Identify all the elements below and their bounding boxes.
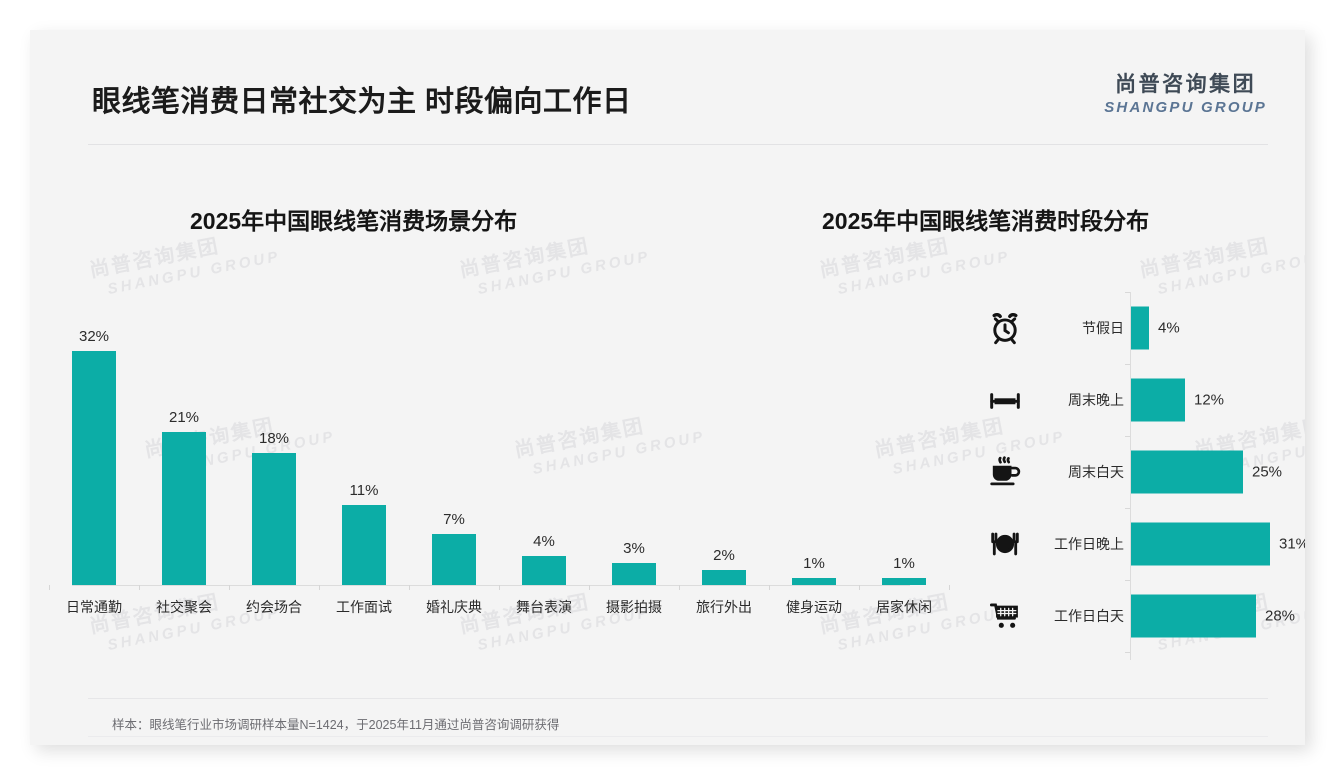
column-value-label: 18% xyxy=(259,430,289,447)
column-axis-tick xyxy=(139,585,140,590)
bar-row: 周末晚上12% xyxy=(960,364,1300,436)
column-bar[interactable] xyxy=(162,432,206,585)
bar-value-label: 25% xyxy=(1252,464,1282,481)
bar-value-label: 28% xyxy=(1265,608,1295,625)
footer-divider xyxy=(88,736,1268,737)
bar-value-label: 12% xyxy=(1194,392,1224,409)
bar-value-label: 4% xyxy=(1158,320,1180,337)
horizontal-bar[interactable] xyxy=(1131,451,1243,494)
horizontal-bar[interactable] xyxy=(1131,595,1256,638)
column-bar[interactable] xyxy=(522,556,566,585)
column-axis-tick xyxy=(949,585,950,590)
bar-axis-tick xyxy=(1125,436,1130,437)
column-axis-tick xyxy=(409,585,410,590)
column-group: 4% xyxy=(499,280,589,585)
alarm-clock-icon xyxy=(988,311,1022,345)
slide-header: 眼线笔消费日常社交为主 时段偏向工作日 尚普咨询集团 SHANGPU GROUP xyxy=(30,30,1305,120)
sample-footnote: 样本：眼线笔行业市场调研样本量N=1424，于2025年11月通过尚普咨询调研获… xyxy=(112,714,559,733)
dinner-plate-icon xyxy=(988,527,1022,561)
horizontal-bar[interactable] xyxy=(1131,379,1185,422)
consumption-scenario-column-chart: 32%21%18%11%7%4%3%2%1%1% 日常通勤社交聚会约会场合工作面… xyxy=(50,280,930,625)
bar-category-label: 工作日晚上 xyxy=(1032,534,1124,554)
consumption-timeslot-bar-chart: 节假日4%周末晚上12%周末白天25%工作日晚上31%工作日白天28% xyxy=(960,292,1300,660)
bar-axis-tick xyxy=(1125,580,1130,581)
column-group: 32% xyxy=(49,280,139,585)
column-category-label: 居家休闲 xyxy=(849,597,959,617)
slide-card: 尚普咨询集团SHANGPU GROUP尚普咨询集团SHANGPU GROUP尚普… xyxy=(30,30,1305,745)
column-chart-baseline xyxy=(72,585,910,586)
column-value-label: 21% xyxy=(169,409,199,426)
column-group: 11% xyxy=(319,280,409,585)
brand-logo: 尚普咨询集团 SHANGPU GROUP xyxy=(1104,68,1267,116)
column-group: 7% xyxy=(409,280,499,585)
column-value-label: 4% xyxy=(533,533,555,550)
column-bar[interactable] xyxy=(72,351,116,585)
page-title: 眼线笔消费日常社交为主 时段偏向工作日 xyxy=(92,78,632,120)
bar-category-label: 周末白天 xyxy=(1032,462,1124,482)
column-bar[interactable] xyxy=(342,505,386,585)
bar-category-label: 周末晚上 xyxy=(1032,390,1124,410)
bar-category-label: 节假日 xyxy=(1032,318,1124,338)
column-bar[interactable] xyxy=(792,578,836,585)
column-bar[interactable] xyxy=(882,578,926,585)
bar-axis-tick xyxy=(1125,508,1130,509)
column-group: 21% xyxy=(139,280,229,585)
header-divider xyxy=(88,144,1268,145)
column-value-label: 7% xyxy=(443,511,465,528)
bar-row: 工作日白天28% xyxy=(960,580,1300,652)
column-axis-tick xyxy=(49,585,50,590)
horizontal-bar[interactable] xyxy=(1131,307,1149,350)
column-value-label: 32% xyxy=(79,328,109,345)
bed-icon xyxy=(988,383,1022,417)
column-axis-tick xyxy=(589,585,590,590)
column-axis-tick xyxy=(769,585,770,590)
column-axis-tick xyxy=(859,585,860,590)
column-value-label: 11% xyxy=(350,482,379,499)
column-value-label: 1% xyxy=(803,555,825,572)
column-group: 18% xyxy=(229,280,319,585)
coffee-cup-icon xyxy=(988,455,1022,489)
bar-row: 节假日4% xyxy=(960,292,1300,364)
column-bar[interactable] xyxy=(252,453,296,585)
column-bar[interactable] xyxy=(612,563,656,585)
bar-axis-tick xyxy=(1125,364,1130,365)
bar-value-label: 31% xyxy=(1279,536,1305,553)
watermark-text: 尚普咨询集团SHANGPU GROUP xyxy=(1138,224,1305,301)
column-axis-tick xyxy=(229,585,230,590)
shopping-cart-icon xyxy=(988,599,1022,633)
brand-name-cn: 尚普咨询集团 xyxy=(1104,68,1267,98)
column-value-label: 1% xyxy=(893,555,915,572)
column-value-label: 2% xyxy=(713,547,735,564)
right-chart-title: 2025年中国眼线笔消费时段分布 xyxy=(822,202,1149,236)
column-axis-tick xyxy=(319,585,320,590)
footnote-divider xyxy=(88,698,1268,699)
horizontal-bar[interactable] xyxy=(1131,523,1270,566)
bar-row: 周末白天25% xyxy=(960,436,1300,508)
brand-name-en: SHANGPU GROUP xyxy=(1104,99,1267,116)
column-plot-area: 32%21%18%11%7%4%3%2%1%1% xyxy=(50,280,930,585)
column-group: 3% xyxy=(589,280,679,585)
left-chart-title: 2025年中国眼线笔消费场景分布 xyxy=(190,202,517,236)
bar-axis-tick xyxy=(1125,292,1130,293)
column-axis-tick xyxy=(679,585,680,590)
bar-axis-tick xyxy=(1125,652,1130,653)
bar-row: 工作日晚上31% xyxy=(960,508,1300,580)
column-bar[interactable] xyxy=(432,534,476,585)
column-bar[interactable] xyxy=(702,570,746,585)
bar-category-label: 工作日白天 xyxy=(1032,606,1124,626)
column-group: 1% xyxy=(859,280,949,585)
column-axis-tick xyxy=(499,585,500,590)
column-group: 1% xyxy=(769,280,859,585)
column-group: 2% xyxy=(679,280,769,585)
column-value-label: 3% xyxy=(623,540,645,557)
